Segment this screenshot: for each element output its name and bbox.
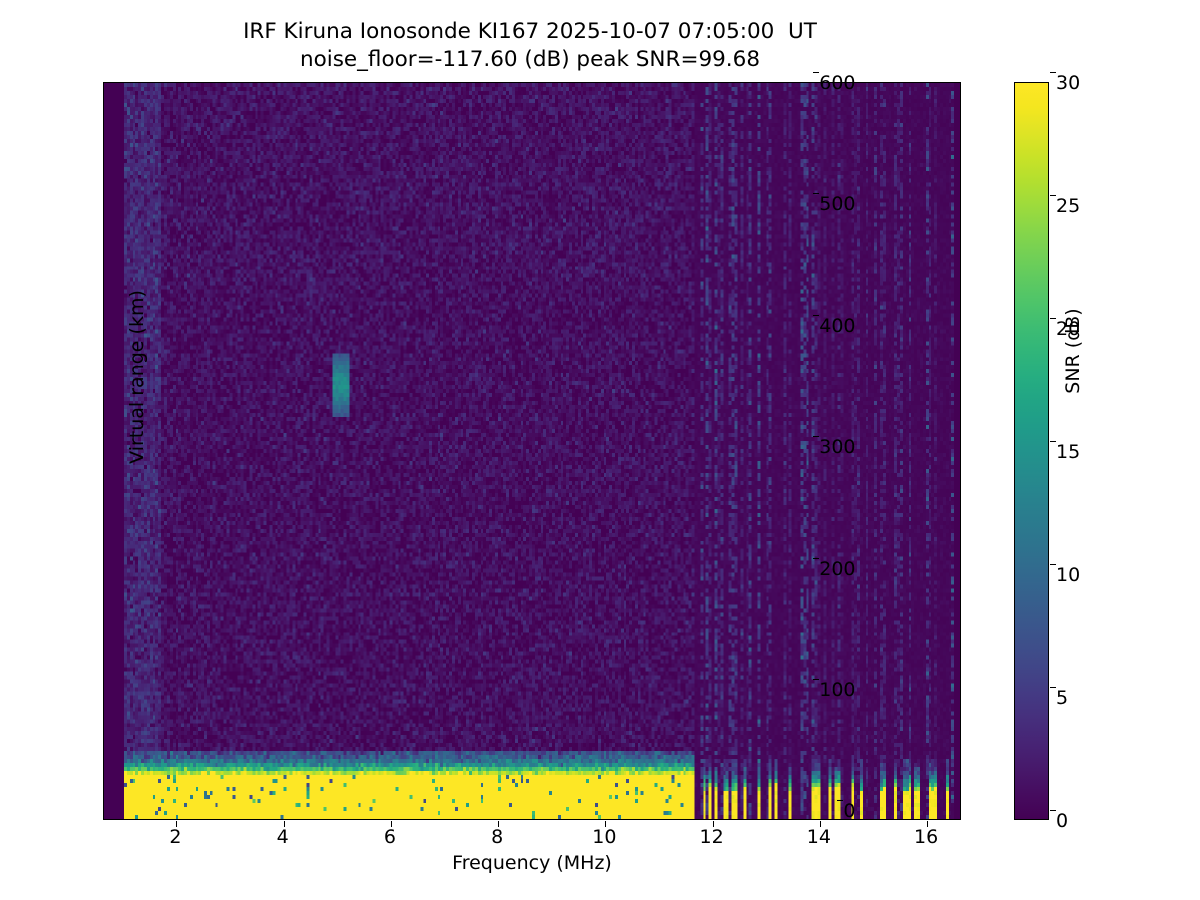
ionogram-axes: Virtual range (km) 0100200300400500600	[103, 82, 961, 820]
title-line-2: noise_floor=-117.60 (dB) peak SNR=99.68	[0, 46, 1060, 74]
x-tick-label: 16	[914, 826, 938, 848]
x-tick-label: 2	[169, 826, 181, 848]
y-tick-label: 500	[819, 193, 855, 215]
y-tick-mark	[813, 679, 819, 680]
colorbar-tick-label: 25	[1056, 195, 1080, 217]
y-axis-label: Virtual range (km)	[126, 282, 148, 472]
x-tick-label: 8	[491, 826, 503, 848]
colorbar-tick-label: 30	[1056, 72, 1080, 94]
colorbar-label: SNR (dB)	[1062, 251, 1084, 451]
x-tick-label: 12	[700, 826, 724, 848]
colorbar-gradient	[1015, 83, 1048, 819]
x-axis-label: Frequency (MHz)	[103, 852, 961, 874]
x-tick-label: 14	[807, 826, 831, 848]
ionogram-figure: IRF Kiruna Ionosonde KI167 2025-10-07 07…	[0, 0, 1200, 900]
y-tick-label: 100	[819, 679, 855, 701]
colorbar-tick-mark	[1050, 195, 1056, 196]
y-tick-label: 300	[819, 436, 855, 458]
y-tick-mark	[813, 193, 819, 194]
y-tick-label: 600	[819, 72, 855, 94]
colorbar-tick-mark	[1050, 72, 1056, 73]
y-tick-label: 200	[819, 558, 855, 580]
y-tick-mark	[813, 558, 819, 559]
colorbar-tick-label: 5	[1056, 687, 1068, 709]
y-tick-mark	[813, 315, 819, 316]
x-tick-label: 10	[592, 826, 616, 848]
colorbar-tick-label: 0	[1056, 810, 1068, 832]
colorbar-tick-mark	[1050, 810, 1056, 811]
colorbar: 051015202530	[1014, 82, 1049, 820]
figure-title: IRF Kiruna Ionosonde KI167 2025-10-07 07…	[0, 18, 1060, 74]
colorbar-tick-mark	[1050, 318, 1056, 319]
colorbar-tick-mark	[1050, 441, 1056, 442]
y-tick-mark	[813, 436, 819, 437]
colorbar-tick-mark	[1050, 687, 1056, 688]
x-tick-label: 6	[384, 826, 396, 848]
colorbar-tick-label: 10	[1056, 564, 1080, 586]
y-tick-mark	[837, 800, 843, 801]
y-tick-mark	[813, 72, 819, 73]
x-tick-label: 4	[277, 826, 289, 848]
title-line-1: IRF Kiruna Ionosonde KI167 2025-10-07 07…	[0, 18, 1060, 46]
y-tick-label: 0	[843, 800, 855, 822]
colorbar-tick-mark	[1050, 564, 1056, 565]
y-tick-label: 400	[819, 315, 855, 337]
